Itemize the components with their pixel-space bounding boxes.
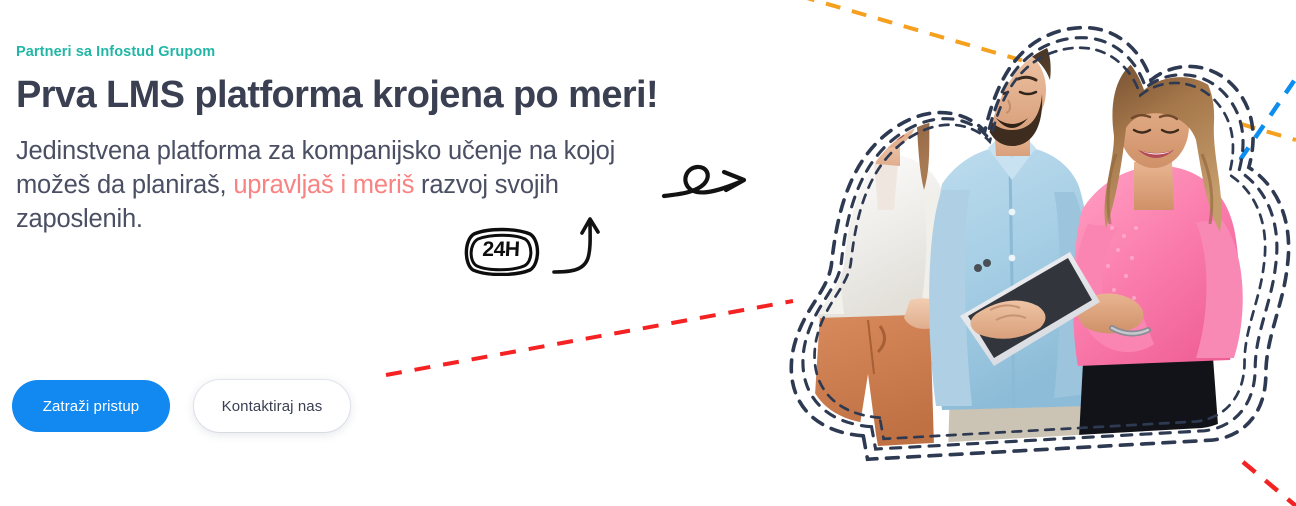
eyebrow-label: Partneri sa Infostud Grupom	[16, 44, 736, 61]
red-dashed-line-left	[386, 301, 793, 375]
cta-button-row: Zatraži pristup Kontaktiraj nas	[12, 380, 350, 432]
hero-subheadline: Jedinstvena platforma za kompanijsko uče…	[16, 135, 656, 237]
hero-section: Partneri sa Infostud Grupom Prva LMS pla…	[0, 0, 1296, 506]
subhead-accent: upravljaš i meriš	[233, 171, 414, 199]
photo-content	[782, 14, 1296, 506]
people-photo-collage	[782, 14, 1296, 506]
hero-copy: Partneri sa Infostud Grupom Prva LMS pla…	[16, 44, 736, 237]
request-access-button[interactable]: Zatraži pristup	[12, 380, 170, 432]
contact-us-button[interactable]: Kontaktiraj nas	[194, 380, 350, 432]
people-photo	[782, 14, 1296, 506]
page-title: Prva LMS platforma krojena po meri!	[16, 74, 736, 117]
